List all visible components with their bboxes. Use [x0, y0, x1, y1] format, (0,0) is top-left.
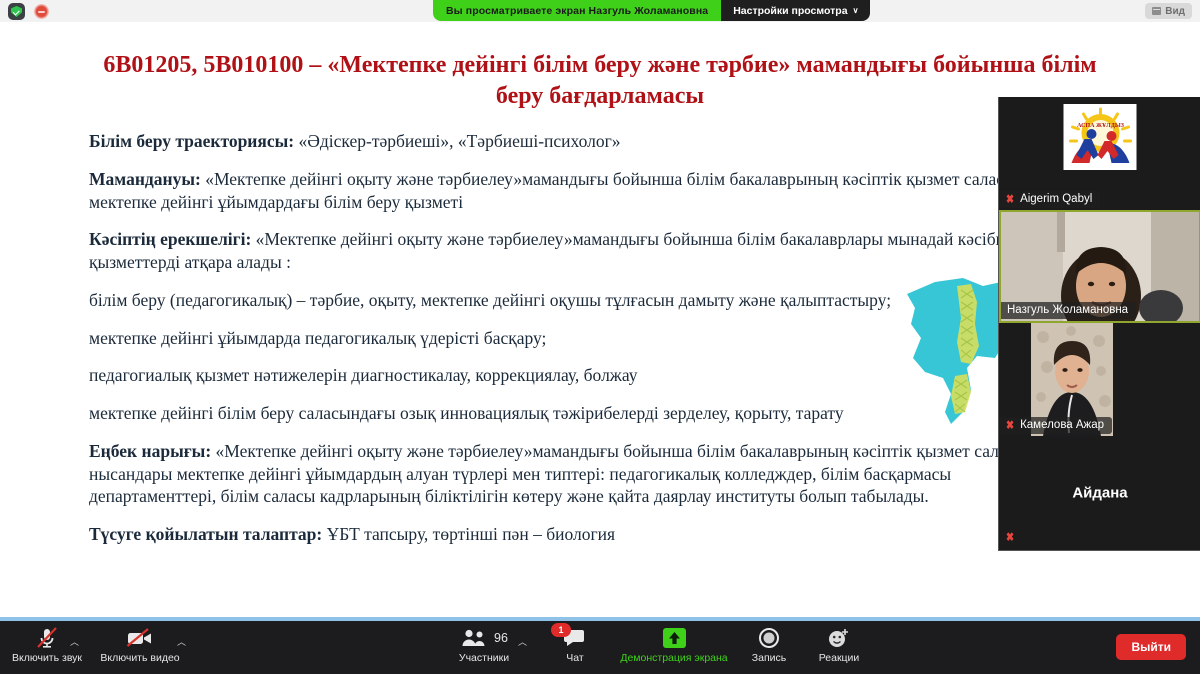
- participant-name: Aigerim Qabyl: [1020, 193, 1092, 205]
- grid-view-icon: [1152, 7, 1161, 15]
- paragraph-text: «Әдіскер-тәрбиеші», «Тәрбиеші-психолог»: [294, 131, 620, 151]
- view-button-label: Вид: [1165, 6, 1185, 17]
- video-tile[interactable]: Айдана ✖: [999, 436, 1200, 550]
- paragraph-text: білім беру (педагогикалық) – тәрбие, оқы…: [89, 290, 891, 310]
- microphone-muted-icon: [34, 626, 60, 650]
- share-screen-button[interactable]: Демонстрация экрана: [604, 626, 744, 665]
- slide-body: Білім беру траекториясы: «Әдіскер-тәрбие…: [89, 130, 1079, 561]
- recording-indicator-icon[interactable]: [34, 4, 49, 19]
- chevron-down-icon: ∨: [853, 7, 859, 15]
- paragraph-heading: Еңбек нарығы:: [89, 441, 211, 461]
- screen-share-banner: Вы просматриваете экран Назгуль Жоламано…: [433, 0, 870, 21]
- paragraph-text: мектепке дейінгі білім беру саласындағы …: [89, 403, 844, 423]
- paragraph-text: ҰБТ тапсыру, төртінші пән – биология: [322, 524, 615, 544]
- record-circle-icon: [758, 626, 780, 650]
- share-screen-icon: [662, 626, 687, 650]
- security-shield-icon[interactable]: [8, 3, 25, 20]
- share-banner-text: Вы просматриваете экран Назгуль Жоламано…: [433, 0, 721, 21]
- participants-caret-icon[interactable]: ︿: [518, 635, 527, 648]
- participant-name-tag: ✖ Aigerim Qabyl: [999, 191, 1100, 208]
- participants-icon: 96: [460, 626, 508, 650]
- paragraph-text: педагогиалық қызмет нәтижелерін диагност…: [89, 365, 638, 385]
- unmute-label: Включить звук: [12, 653, 82, 665]
- video-tile-active-speaker[interactable]: Назгуль Жоламановна: [999, 210, 1200, 323]
- participant-name: Камелова Ажар: [1020, 419, 1104, 431]
- mic-muted-icon: ✖: [1006, 419, 1014, 431]
- paragraph-heading: Кәсіптің ерекшелігі:: [89, 229, 251, 249]
- participant-name-tag: ✖ Камелова Ажар: [999, 417, 1112, 434]
- start-video-button[interactable]: Включить видео: [97, 626, 183, 665]
- video-tile[interactable]: ✖ Камелова Ажар: [999, 323, 1200, 436]
- slide-paragraph: Білім беру траекториясы: «Әдіскер-тәрбие…: [89, 130, 1079, 153]
- slide-paragraph: Мамандануы: «Мектепке дейінгі оқыту және…: [89, 168, 1079, 214]
- shield-glyph: [11, 6, 22, 17]
- slide-paragraph: Кәсіптің ерекшелігі: «Мектепке дейінгі о…: [89, 228, 1079, 274]
- record-label: Запись: [752, 653, 786, 665]
- view-options-label: Настройки просмотра: [733, 5, 847, 17]
- view-button[interactable]: Вид: [1145, 3, 1192, 19]
- mic-muted-icon: ✖: [1006, 193, 1014, 205]
- view-options-button[interactable]: Настройки просмотра ∨: [721, 0, 870, 21]
- organization-logo-icon: АСПА ЖҰЛДЫЗ: [1064, 104, 1137, 170]
- reactions-button[interactable]: Реакции: [796, 626, 882, 665]
- chat-label: Чат: [566, 653, 583, 665]
- reactions-label: Реакции: [819, 653, 860, 665]
- smiley-reactions-icon: [827, 626, 851, 650]
- participants-count: 96: [494, 631, 508, 645]
- video-options-caret-icon[interactable]: ︿: [177, 635, 186, 648]
- participants-label: Участники: [459, 653, 509, 665]
- page-title: 6В01205, 5В010100 – «Мектепке дейінгі бі…: [95, 50, 1105, 111]
- slide-paragraph: педагогиалық қызмет нәтижелерін диагност…: [89, 364, 1079, 387]
- paragraph-text: мектепке дейінгі ұйымдарда педагогикалық…: [89, 328, 546, 348]
- top-bar: Вы просматриваете экран Назгуль Жоламано…: [0, 0, 1200, 22]
- video-tile[interactable]: АСПА ЖҰЛДЫЗ ✖ Aigerim Qabyl: [999, 97, 1200, 210]
- video-thumbnail-strip[interactable]: АСПА ЖҰЛДЫЗ ✖ Aigerim Qabyl: [998, 97, 1200, 551]
- paragraph-heading: Білім беру траекториясы:: [89, 131, 294, 151]
- slide-paragraph: мектепке дейінгі білім беру саласындағы …: [89, 402, 1079, 425]
- slide-paragraph: Еңбек нарығы: «Мектепке дейінгі оқыту жә…: [89, 440, 1079, 508]
- paragraph-text: «Мектепке дейінгі оқыту және тәрбиелеу»м…: [89, 441, 1057, 507]
- svg-text:АСПА ЖҰЛДЫЗ: АСПА ЖҰЛДЫЗ: [1077, 123, 1124, 129]
- share-screen-label: Демонстрация экрана: [620, 653, 727, 665]
- slide-paragraph: Түсуге қойылатын талаптар: ҰБТ тапсыру, …: [89, 523, 1079, 546]
- paragraph-heading: Түсуге қойылатын талаптар:: [89, 524, 322, 544]
- slide-paragraph: мектепке дейінгі ұйымдарда педагогикалық…: [89, 327, 1079, 350]
- slide-paragraph: білім беру (педагогикалық) – тәрбие, оқы…: [89, 289, 1079, 312]
- camera-muted-icon: [125, 626, 155, 650]
- participants-button[interactable]: 96 Участники: [441, 626, 527, 665]
- start-video-label: Включить видео: [100, 653, 179, 665]
- audio-options-caret-icon[interactable]: ︿: [70, 635, 79, 648]
- top-left-icon-group: [8, 3, 49, 20]
- participant-name: Айдана: [999, 485, 1200, 502]
- paragraph-heading: Мамандануы:: [89, 169, 201, 189]
- participant-name: Назгуль Жоламановна: [1007, 304, 1128, 316]
- participant-name-tag: Назгуль Жоламановна: [1001, 302, 1136, 319]
- leave-meeting-button[interactable]: Выйти: [1116, 634, 1186, 660]
- meeting-toolbar: Включить звук ︿ Включить видео ︿ 96: [0, 621, 1200, 674]
- paragraph-text: «Мектепке дейінгі оқыту және тәрбиелеу»м…: [89, 169, 1038, 212]
- mic-muted-icon: ✖: [1006, 530, 1014, 544]
- chat-unread-badge: 1: [551, 623, 571, 637]
- chat-bubble-icon: 1: [563, 626, 587, 650]
